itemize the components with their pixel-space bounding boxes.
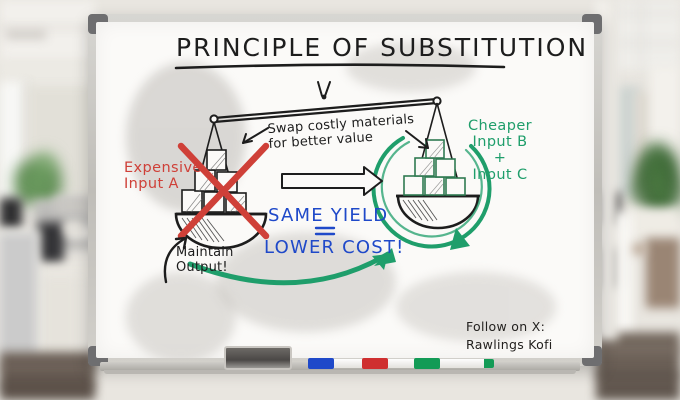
signature-line-1: Follow on X:	[466, 320, 545, 334]
title-underline	[176, 65, 504, 68]
marker-cap	[308, 358, 334, 369]
expensive-input-label: Expensive Input A	[124, 160, 202, 192]
same-yield-text: SAME YIELD	[268, 206, 388, 226]
beam-end-left	[210, 115, 217, 122]
pivot-point	[322, 95, 327, 100]
substitution-arrow	[282, 167, 382, 195]
board-title: PRINCIPLE OF SUBSTITUTION	[176, 34, 588, 62]
green-marker[interactable]	[414, 359, 494, 368]
whiteboard-eraser[interactable]	[224, 346, 292, 370]
cheaper-input-label: Cheaper Input B + Input C	[468, 118, 532, 183]
photo-scene: PRINCIPLE OF SUBSTITUTION Expensive Inpu…	[0, 0, 680, 400]
marker-tray-lip	[104, 370, 576, 374]
signature-line-2: Rawlings Kofi	[466, 338, 553, 352]
right-pan-boxes	[404, 140, 465, 195]
maintain-output-label: Maintain Output!	[176, 246, 234, 275]
swap-arrow-left	[243, 128, 268, 143]
marker-tail	[484, 359, 494, 368]
marker-cap	[414, 358, 440, 369]
lower-cost-text: LOWER COST!	[264, 238, 405, 258]
pivot-mark-left	[318, 82, 322, 96]
marker-cap	[362, 358, 388, 369]
pivot-mark-right	[325, 82, 330, 96]
